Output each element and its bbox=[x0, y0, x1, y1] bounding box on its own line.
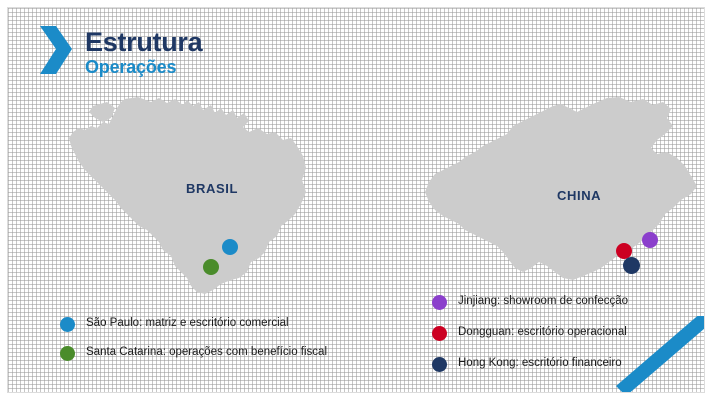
legend-dot-icon bbox=[432, 357, 447, 372]
legend-dot-icon bbox=[60, 346, 75, 361]
map-label-china: CHINA bbox=[557, 188, 601, 203]
map-marker-santa-catarina[interactable] bbox=[203, 259, 219, 275]
legend-item-santa-catarina: Santa Catarina: operações com benefício … bbox=[60, 345, 390, 361]
slide-canvas: Estrutura Operações BRASIL CHINA bbox=[0, 0, 712, 400]
map-marker-sao-paulo[interactable] bbox=[222, 239, 238, 255]
legend-dot-icon bbox=[432, 326, 447, 341]
brasil-shape bbox=[63, 96, 313, 296]
legend-label: Santa Catarina: operações com benefício … bbox=[86, 345, 327, 359]
legend-label: Jinjiang: showroom de confecção bbox=[458, 294, 628, 308]
legend-dot-icon bbox=[60, 317, 75, 332]
map-marker-hong-kong[interactable] bbox=[623, 257, 640, 274]
legend-item-hong-kong: Hong Kong: escritório financeiro bbox=[432, 356, 705, 372]
legend-item-sao-paulo: São Paulo: matriz e escritório comercial bbox=[60, 316, 390, 332]
page-title: Estrutura bbox=[85, 28, 202, 56]
legend-dot-icon bbox=[432, 295, 447, 310]
legend-label: Hong Kong: escritório financeiro bbox=[458, 356, 622, 370]
slide-frame: Estrutura Operações BRASIL CHINA bbox=[7, 7, 705, 393]
legend-item-jinjiang: Jinjiang: showroom de confecção bbox=[432, 294, 705, 310]
legend-label: São Paulo: matriz e escritório comercial bbox=[86, 316, 289, 330]
map-marker-jinjiang[interactable] bbox=[642, 232, 658, 248]
legend-brasil: São Paulo: matriz e escritório comercial… bbox=[60, 316, 390, 374]
legend-item-dongguan: Dongguan: escritório operacional bbox=[432, 325, 705, 341]
map-label-brasil: BRASIL bbox=[186, 181, 238, 196]
legend-label: Dongguan: escritório operacional bbox=[458, 325, 627, 339]
page-subtitle: Operações bbox=[85, 58, 202, 78]
legend-china: Jinjiang: showroom de confecção Dongguan… bbox=[432, 294, 705, 387]
chevron-right-icon bbox=[38, 24, 74, 76]
title-block: Estrutura Operações bbox=[85, 24, 202, 78]
slide-header: Estrutura Operações bbox=[38, 24, 202, 78]
map-brasil bbox=[63, 96, 313, 296]
